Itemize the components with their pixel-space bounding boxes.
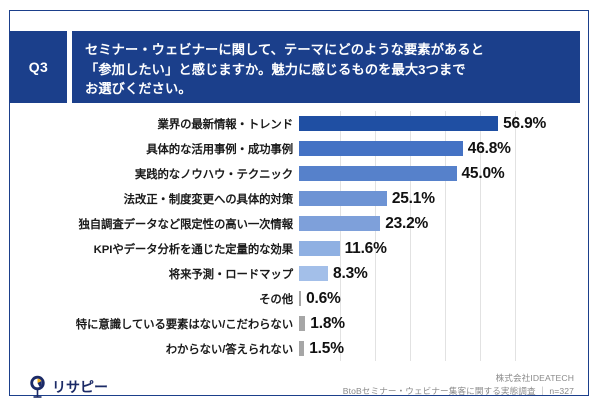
bar — [299, 291, 301, 306]
value-label: 46.8% — [468, 140, 511, 158]
chart-row: 法改正・制度変更への具体的対策25.1% — [10, 186, 588, 211]
value-label: 25.1% — [392, 190, 435, 208]
value-label: 11.6% — [345, 240, 387, 258]
value-label: 45.0% — [462, 165, 505, 183]
source-credit: 株式会社IDEATECH BtoBセミナー・ウェビナー集客に関する実態調査 ｜ … — [343, 372, 574, 397]
bar-container: 25.1% — [299, 186, 588, 211]
question-line-1: セミナー・ウェビナーに関して、テーマにどのような要素があると — [85, 40, 568, 60]
risapi-pin-icon — [28, 375, 47, 399]
category-label: その他 — [10, 291, 299, 307]
bar-container: 8.3% — [299, 261, 588, 286]
category-label: 業界の最新情報・トレンド — [10, 116, 299, 132]
bar-container: 11.6% — [299, 236, 588, 261]
question-line-3: お選びください。 — [85, 79, 568, 99]
bar-container: 45.0% — [299, 161, 588, 186]
chart-row: わからない/答えられない1.5% — [10, 336, 588, 361]
bar — [299, 116, 498, 131]
question-banner: セミナー・ウェビナーに関して、テーマにどのような要素があると 「参加したい」と感… — [72, 31, 580, 103]
bar-container: 0.6% — [299, 286, 588, 311]
chart-row: 業界の最新情報・トレンド56.9% — [10, 111, 588, 136]
category-label: 実践的なノウハウ・テクニック — [10, 166, 299, 182]
bar — [299, 216, 380, 231]
category-label: 独自調査データなど限定性の高い一次情報 — [10, 216, 299, 232]
chart-row: その他0.6% — [10, 286, 588, 311]
chart-row: 特に意識している要素はない/こだわらない1.8% — [10, 311, 588, 336]
bar-container: 46.8% — [299, 136, 588, 161]
value-label: 8.3% — [333, 265, 368, 283]
bar — [299, 341, 304, 356]
bar-container: 1.8% — [299, 311, 588, 336]
chart-row: 将来予測・ロードマップ8.3% — [10, 261, 588, 286]
bar — [299, 266, 328, 281]
value-label: 1.8% — [310, 315, 345, 333]
bar — [299, 191, 387, 206]
chart-row: 実践的なノウハウ・テクニック45.0% — [10, 161, 588, 186]
bar — [299, 241, 340, 256]
bar-chart: 業界の最新情報・トレンド56.9%具体的な活用事例・成功事例46.8%実践的なノ… — [10, 111, 588, 361]
bar — [299, 141, 463, 156]
bar — [299, 316, 305, 331]
category-label: 具体的な活用事例・成功事例 — [10, 141, 299, 157]
category-label: 特に意識している要素はない/こだわらない — [10, 316, 299, 332]
category-label: 将来予測・ロードマップ — [10, 266, 299, 282]
question-line-2: 「参加したい」と感じますか。魅力に感じるものを最大3つまで — [85, 60, 568, 80]
chart-row: KPIやデータ分析を通じた定量的な効果11.6% — [10, 236, 588, 261]
chart-row: 具体的な活用事例・成功事例46.8% — [10, 136, 588, 161]
brand-name: リサピー — [52, 377, 108, 397]
category-label: わからない/答えられない — [10, 341, 299, 357]
category-label: KPIやデータ分析を通じた定量的な効果 — [10, 241, 299, 257]
chart-row: 独自調査データなど限定性の高い一次情報23.2% — [10, 211, 588, 236]
value-label: 23.2% — [385, 215, 428, 233]
brand-logo: リサピー — [28, 375, 108, 399]
company-name: 株式会社IDEATECH — [343, 372, 574, 385]
chart-rows: 業界の最新情報・トレンド56.9%具体的な活用事例・成功事例46.8%実践的なノ… — [10, 111, 588, 361]
survey-name: BtoBセミナー・ウェビナー集客に関する実態調査 ｜ n=327 — [343, 385, 574, 398]
category-label: 法改正・制度変更への具体的対策 — [10, 191, 299, 207]
bar — [299, 166, 457, 181]
question-number-badge: Q3 — [10, 31, 67, 103]
value-label: 0.6% — [306, 290, 341, 308]
bar-container: 23.2% — [299, 211, 588, 236]
survey-chart-card: Q3 セミナー・ウェビナーに関して、テーマにどのような要素があると 「参加したい… — [9, 10, 589, 396]
bar-container: 1.5% — [299, 336, 588, 361]
value-label: 1.5% — [309, 340, 344, 358]
bar-container: 56.9% — [299, 111, 588, 136]
value-label: 56.9% — [503, 115, 546, 133]
question-number-label: Q3 — [29, 59, 48, 75]
